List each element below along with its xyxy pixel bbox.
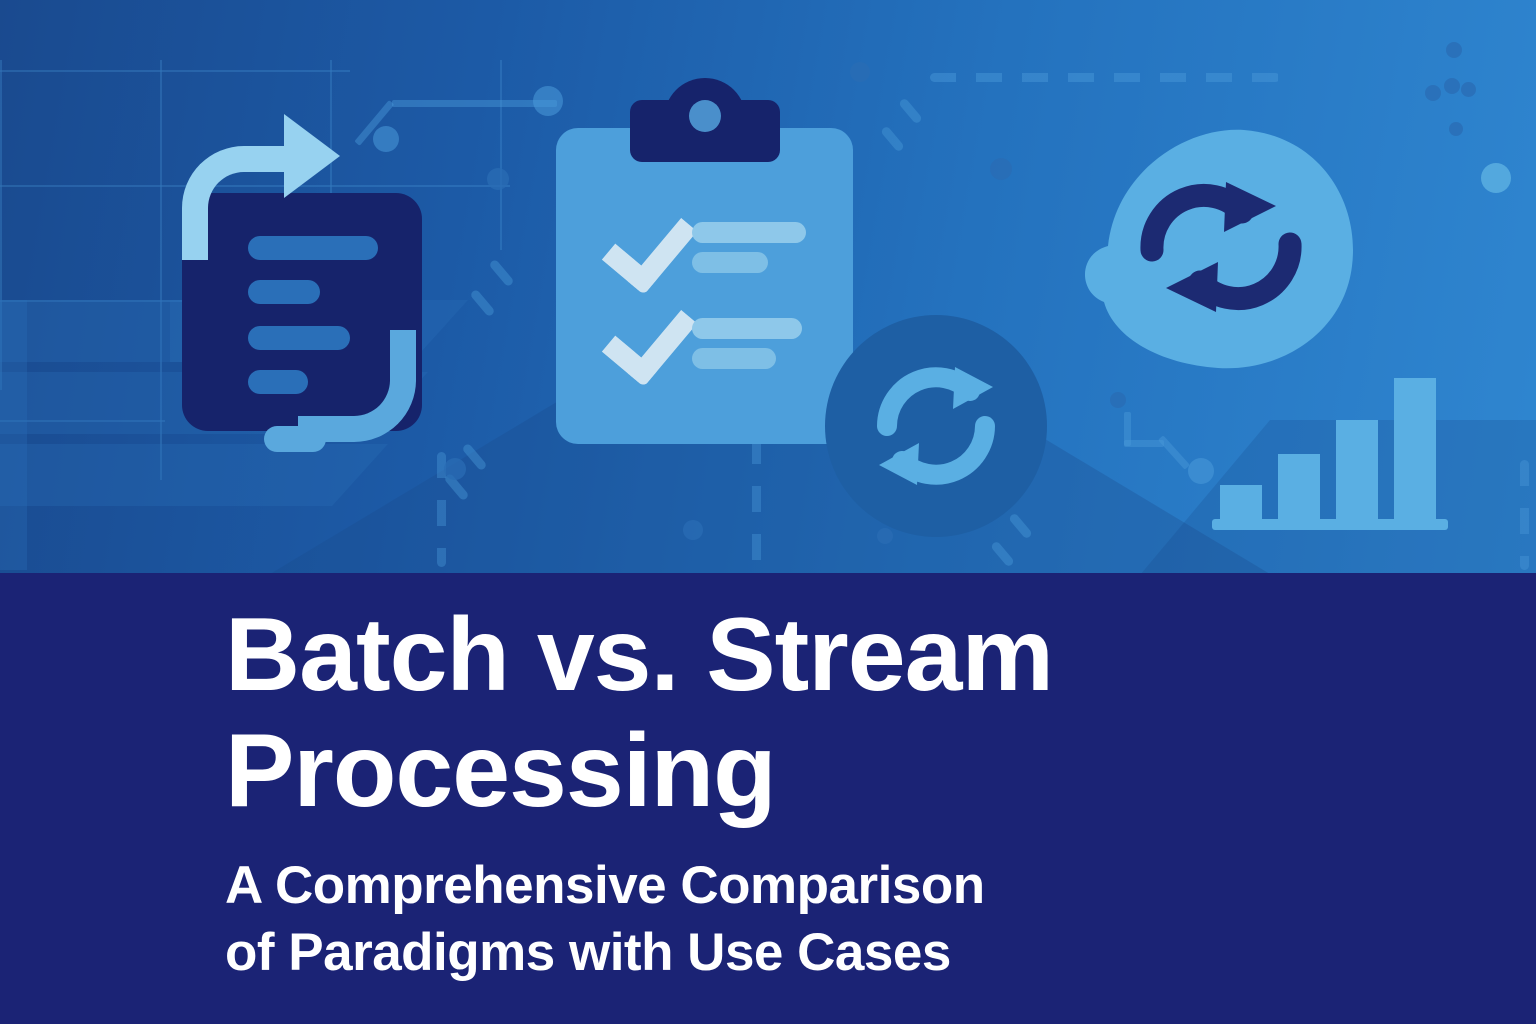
chart-bar (1394, 378, 1436, 520)
decor-dot (1461, 82, 1476, 97)
diagonal-dash (469, 289, 495, 318)
circuit-node (1188, 458, 1214, 484)
decor-dot (1449, 122, 1463, 136)
diagonal-dash (880, 125, 905, 152)
dashed-connector (930, 73, 1280, 82)
dashed-connector (752, 438, 761, 568)
diagonal-dash (898, 97, 923, 124)
dashed-connector (1520, 460, 1529, 570)
loop-arrow-tail (264, 426, 326, 452)
decor-dot (1110, 392, 1126, 408)
decor-dot (1446, 42, 1462, 58)
clipboard-text-line (692, 252, 768, 273)
decor-dot (990, 158, 1012, 180)
title-block: Batch vs. Stream Processing A Comprehens… (225, 597, 1375, 987)
title-band: Batch vs. Stream Processing A Comprehens… (0, 573, 1536, 1024)
cloud-sync-icon (1068, 110, 1368, 380)
poster-root: Batch vs. Stream Processing A Comprehens… (0, 0, 1536, 1024)
hero-artwork (0, 0, 1536, 573)
decor-dot (850, 62, 870, 82)
decor-dot (683, 520, 703, 540)
subtitle-block: A Comprehensive Comparison of Paradigms … (225, 852, 1375, 987)
loop-arrowhead-icon (284, 114, 340, 198)
decor-dot (1425, 85, 1441, 101)
decor-dot (444, 458, 466, 480)
sync-circle-icon (825, 315, 1047, 537)
chart-bar (1336, 420, 1378, 520)
diagonal-dash (488, 259, 514, 288)
clipboard-text-line (692, 318, 802, 339)
sync-arrows-icon (825, 315, 1047, 537)
document-text-line (248, 280, 320, 304)
cloud-sync-arrows-icon (1130, 154, 1320, 332)
decor-dot (1444, 78, 1460, 94)
page-title-line-2: Processing (225, 713, 1375, 829)
chart-bar (1220, 485, 1262, 520)
clipboard-text-line (692, 348, 776, 369)
bar-chart-icon (1212, 378, 1448, 530)
clipboard-checklist-icon (556, 100, 856, 445)
clipboard-body (556, 128, 853, 444)
page-subtitle-line-2: of Paradigms with Use Cases (225, 919, 1375, 986)
batch-document-icon (176, 108, 446, 478)
page-subtitle-line-1: A Comprehensive Comparison (225, 852, 1375, 919)
decor-dot (1481, 163, 1511, 193)
page-title-line-1: Batch vs. Stream (225, 597, 1375, 713)
decor-dot (487, 168, 509, 190)
clipboard-text-line (692, 222, 806, 243)
clipboard-clip-hole-icon (689, 100, 721, 132)
chart-baseline (1212, 519, 1448, 530)
chart-bar (1278, 454, 1320, 520)
